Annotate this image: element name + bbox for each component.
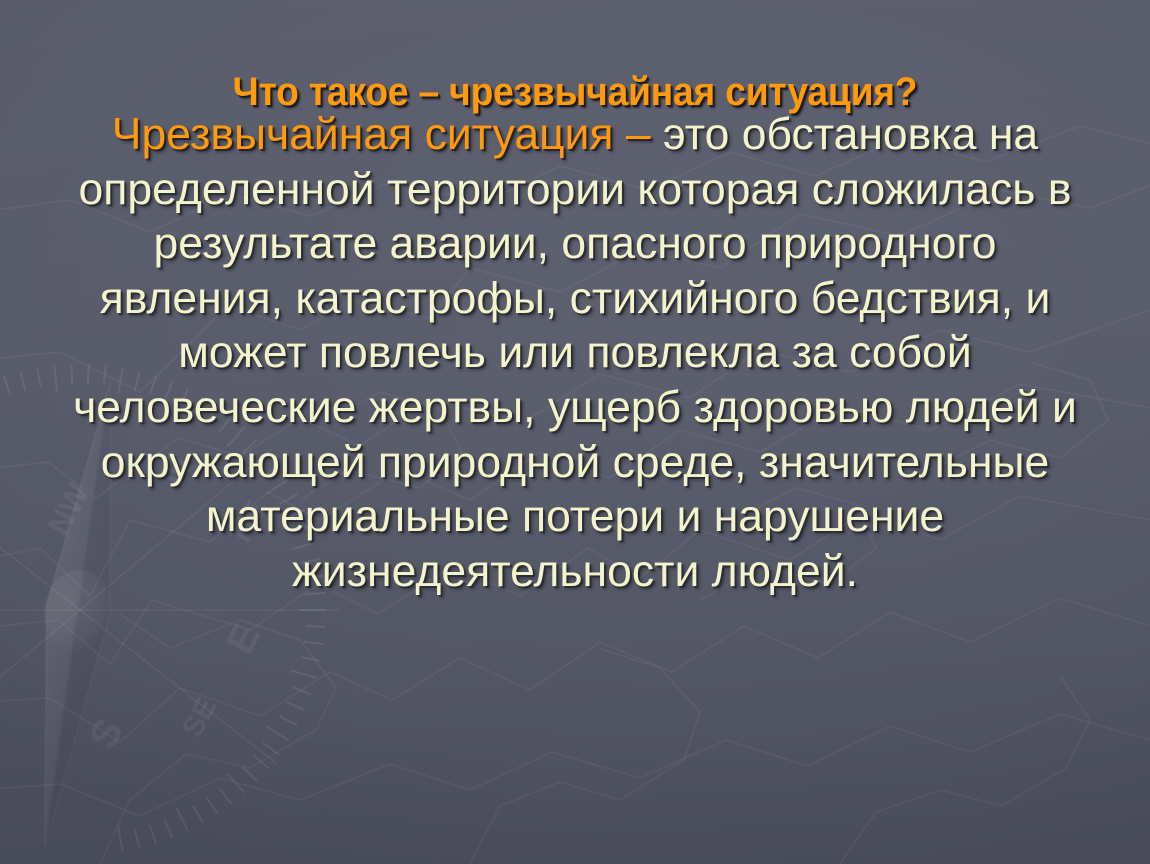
body-main-text: это обстановка на определенной территори… [73, 110, 1077, 596]
slide-body-text: Чрезвычайная ситуация – это обстановка н… [62, 108, 1088, 599]
page-title: Что такое – чрезвычайная ситуация? [40, 71, 1110, 113]
presentation-slide: N NW NE E SE S [0, 0, 1150, 864]
body-accent-phrase: Чрезвычайная ситуация – [112, 110, 651, 159]
slide-content: Что такое – чрезвычайная ситуация? Чрезв… [0, 0, 1150, 864]
